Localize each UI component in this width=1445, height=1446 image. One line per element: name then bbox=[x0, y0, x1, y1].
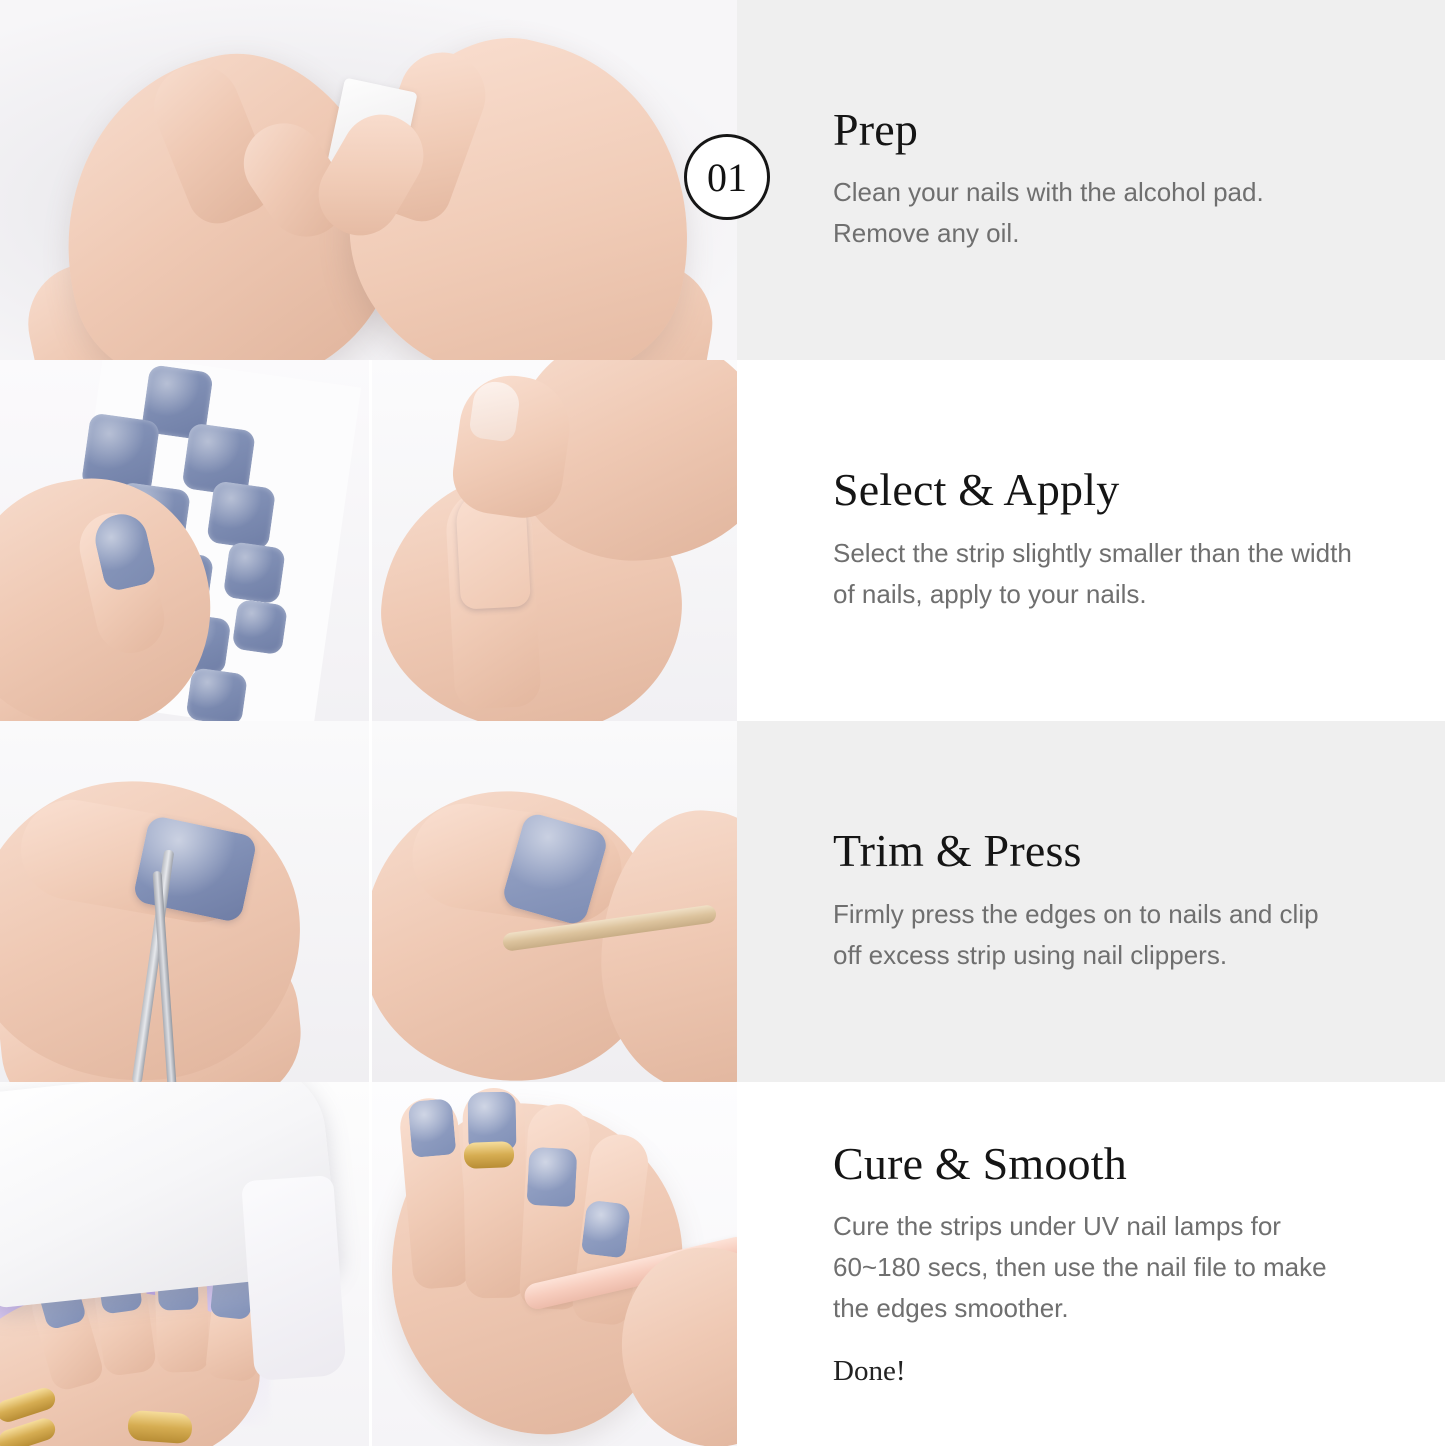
photo-nail-file-smoothing bbox=[369, 1082, 737, 1446]
photo-apply-strip-to-nail bbox=[369, 360, 737, 721]
step-02-media bbox=[0, 360, 737, 721]
step-02-title: Select & Apply bbox=[833, 466, 1445, 515]
step-badge-01: 01 bbox=[684, 134, 770, 220]
step-04-title: Cure & Smooth bbox=[833, 1140, 1445, 1189]
step-04-text-panel: Cure & Smooth Cure the strips under UV n… bbox=[737, 1082, 1445, 1446]
step-03-title: Trim & Press bbox=[833, 827, 1445, 876]
step-01-body: Clean your nails with the alcohol pad. R… bbox=[833, 172, 1353, 254]
photo-strip-sheet-in-hand bbox=[0, 360, 369, 721]
step-01-title: Prep bbox=[833, 106, 1445, 155]
step-02-body: Select the strip slightly smaller than t… bbox=[833, 533, 1353, 615]
step-row-03: Trim & Press Firmly press the edges on t… bbox=[0, 721, 1445, 1082]
step-01-text-panel: Prep Clean your nails with the alcohol p… bbox=[737, 0, 1445, 360]
step-03-body: Firmly press the edges on to nails and c… bbox=[833, 894, 1353, 976]
step-row-01: Prep Clean your nails with the alcohol p… bbox=[0, 0, 1445, 360]
step-01-media bbox=[0, 0, 737, 360]
step-row-02: Select & Apply Select the strip slightly… bbox=[0, 360, 1445, 721]
photo-press-with-wooden-stick bbox=[369, 721, 737, 1082]
instruction-infographic: Prep Clean your nails with the alcohol p… bbox=[0, 0, 1445, 1446]
step-04-footnote: Done! bbox=[833, 1355, 1445, 1388]
step-02-text-panel: Select & Apply Select the strip slightly… bbox=[737, 360, 1445, 721]
photo-trim-with-scissors bbox=[0, 721, 369, 1082]
step-04-body: Cure the strips under UV nail lamps for … bbox=[833, 1206, 1353, 1329]
step-03-text-panel: Trim & Press Firmly press the edges on t… bbox=[737, 721, 1445, 1082]
step-row-04: Cure & Smooth Cure the strips under UV n… bbox=[0, 1082, 1445, 1446]
photo-prep-hands-alcohol-pad bbox=[0, 0, 737, 360]
photo-uv-lamp-curing bbox=[0, 1082, 369, 1446]
step-03-media bbox=[0, 721, 737, 1082]
step-04-media bbox=[0, 1082, 737, 1446]
